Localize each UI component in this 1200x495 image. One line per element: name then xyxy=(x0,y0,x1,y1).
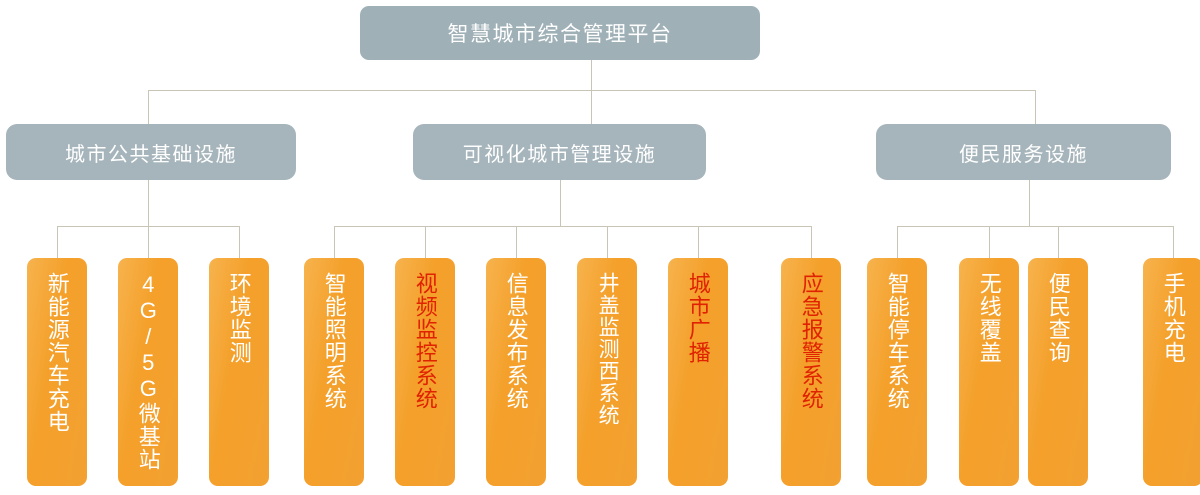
node-leaf-video-surveillance-system[interactable]: 视频监控系统 xyxy=(395,258,455,486)
connector-drop-leaf-10 xyxy=(897,226,898,258)
connector-drop-leaf-5 xyxy=(425,226,426,258)
node-branch-3[interactable]: 便民服务设施 xyxy=(876,124,1171,180)
node-leaf-label: 环境监测 xyxy=(226,272,252,364)
connector-drop-leaf-6 xyxy=(516,226,517,258)
node-branch-1[interactable]: 城市公共基础设施 xyxy=(6,124,296,180)
connector-drop-branch-2 xyxy=(591,90,592,124)
connector-drop-leaf-4 xyxy=(334,226,335,258)
connector-drop-branch-1 xyxy=(148,90,149,124)
connector-branch-3-bus xyxy=(897,226,1173,227)
connector-drop-leaf-12 xyxy=(1058,226,1059,258)
node-leaf-city-broadcast[interactable]: 城市广播 xyxy=(668,258,728,486)
connector-drop-branch-3 xyxy=(1035,90,1036,124)
connector-branch-3-stem xyxy=(1029,180,1030,226)
org-chart-canvas: 智慧城市综合管理平台 城市公共基础设施 可视化城市管理设施 便民服务设施 新能源… xyxy=(0,0,1200,495)
node-branch-2-label: 可视化城市管理设施 xyxy=(463,138,657,167)
node-leaf-label: 智能停车系统 xyxy=(884,272,910,410)
connector-branch-1-stem xyxy=(148,180,149,226)
node-leaf-label: 便民查询 xyxy=(1045,272,1071,364)
connector-drop-leaf-8 xyxy=(698,226,699,258)
node-leaf-new-energy-vehicle-charging[interactable]: 新能源汽车充电 xyxy=(27,258,87,486)
node-leaf-emergency-alarm-system[interactable]: 应急报警系统 xyxy=(781,258,841,486)
connector-drop-leaf-2 xyxy=(148,226,149,258)
node-leaf-smart-parking-system[interactable]: 智能停车系统 xyxy=(867,258,927,486)
connector-drop-leaf-7 xyxy=(607,226,608,258)
connector-drop-leaf-9 xyxy=(811,226,812,258)
connector-branch-2-stem xyxy=(560,180,561,226)
node-root[interactable]: 智慧城市综合管理平台 xyxy=(360,6,760,60)
node-leaf-convenient-inquiry[interactable]: 便民查询 xyxy=(1028,258,1088,486)
node-leaf-environmental-monitoring[interactable]: 环境监测 xyxy=(209,258,269,486)
node-leaf-label: 视频监控系统 xyxy=(412,272,438,410)
node-leaf-label: 4G/5G微基站 xyxy=(135,272,161,471)
node-leaf-smart-lighting-system[interactable]: 智能照明系统 xyxy=(304,258,364,486)
node-leaf-label: 应急报警系统 xyxy=(798,272,824,410)
node-leaf-label: 新能源汽车充电 xyxy=(44,272,70,433)
connector-root-stem xyxy=(591,60,592,90)
node-leaf-label: 无线覆盖 xyxy=(976,272,1002,364)
node-branch-1-label: 城市公共基础设施 xyxy=(65,138,237,167)
node-leaf-information-release-system[interactable]: 信息发布系统 xyxy=(486,258,546,486)
node-leaf-wireless-coverage[interactable]: 无线覆盖 xyxy=(959,258,1019,486)
node-leaf-label: 手机充电 xyxy=(1160,272,1186,364)
connector-drop-leaf-13 xyxy=(1173,226,1174,258)
node-leaf-4g-5g-micro-base-station[interactable]: 4G/5G微基站 xyxy=(118,258,178,486)
connector-drop-leaf-1 xyxy=(57,226,58,258)
node-leaf-label: 信息发布系统 xyxy=(503,272,529,410)
node-root-label: 智慧城市综合管理平台 xyxy=(448,18,673,48)
node-leaf-label: 智能照明系统 xyxy=(321,272,347,410)
node-leaf-label: 城市广播 xyxy=(685,272,711,364)
connector-branch-2-bus xyxy=(334,226,812,227)
connector-level1-bus xyxy=(148,90,1036,91)
node-leaf-manhole-cover-monitoring-system[interactable]: 井盖监测西系统 xyxy=(577,258,637,486)
node-branch-3-label: 便民服务设施 xyxy=(959,138,1088,167)
node-branch-2[interactable]: 可视化城市管理设施 xyxy=(413,124,706,180)
node-leaf-mobile-phone-charging[interactable]: 手机充电 xyxy=(1143,258,1200,486)
node-leaf-label: 井盖监测西系统 xyxy=(595,272,619,426)
connector-drop-leaf-11 xyxy=(989,226,990,258)
connector-drop-leaf-3 xyxy=(239,226,240,258)
